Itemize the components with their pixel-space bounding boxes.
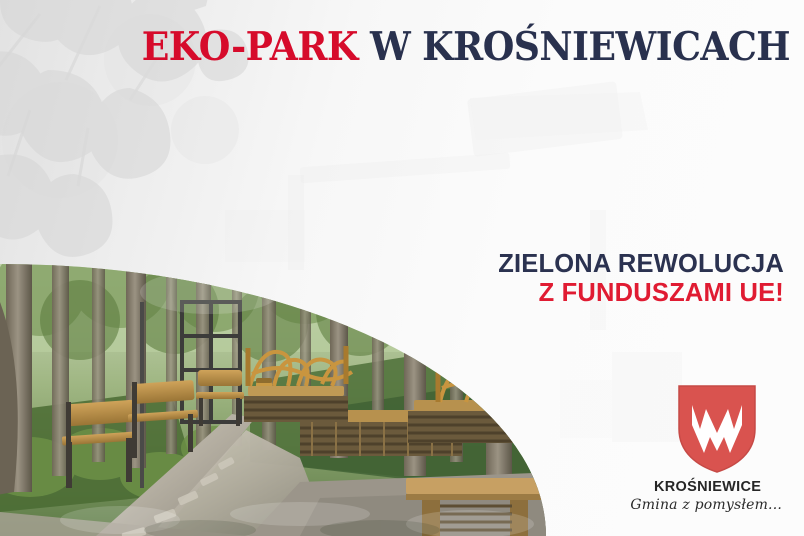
logo-municipality-name: KROŚNIEWICE — [628, 479, 788, 495]
hero-photo — [0, 262, 560, 536]
park-scene-illustration — [0, 262, 560, 536]
subtitle-line-2: Z FUNDUSZAMI UE! — [498, 279, 784, 308]
title-rest: W KROŚNIEWICACH — [358, 24, 790, 70]
logo-tagline: Gmina z pomysłem... — [628, 497, 788, 513]
krosniewice-logo: KROŚNIEWICE Gmina z pomysłem... — [628, 385, 788, 525]
subtitle-block: ZIELONA REWOLUCJA Z FUNDUSZAMI UE! — [498, 250, 784, 308]
coat-of-arms-shield-icon — [678, 385, 756, 473]
subtitle-line-1: ZIELONA REWOLUCJA — [498, 250, 784, 279]
poster-canvas: EKO-PARK W KROŚNIEWICACH — [0, 0, 804, 536]
title-highlight: EKO-PARK — [142, 24, 358, 70]
hero-photo-container — [0, 262, 560, 536]
page-title: EKO-PARK W KROŚNIEWICACH — [55, 28, 790, 67]
